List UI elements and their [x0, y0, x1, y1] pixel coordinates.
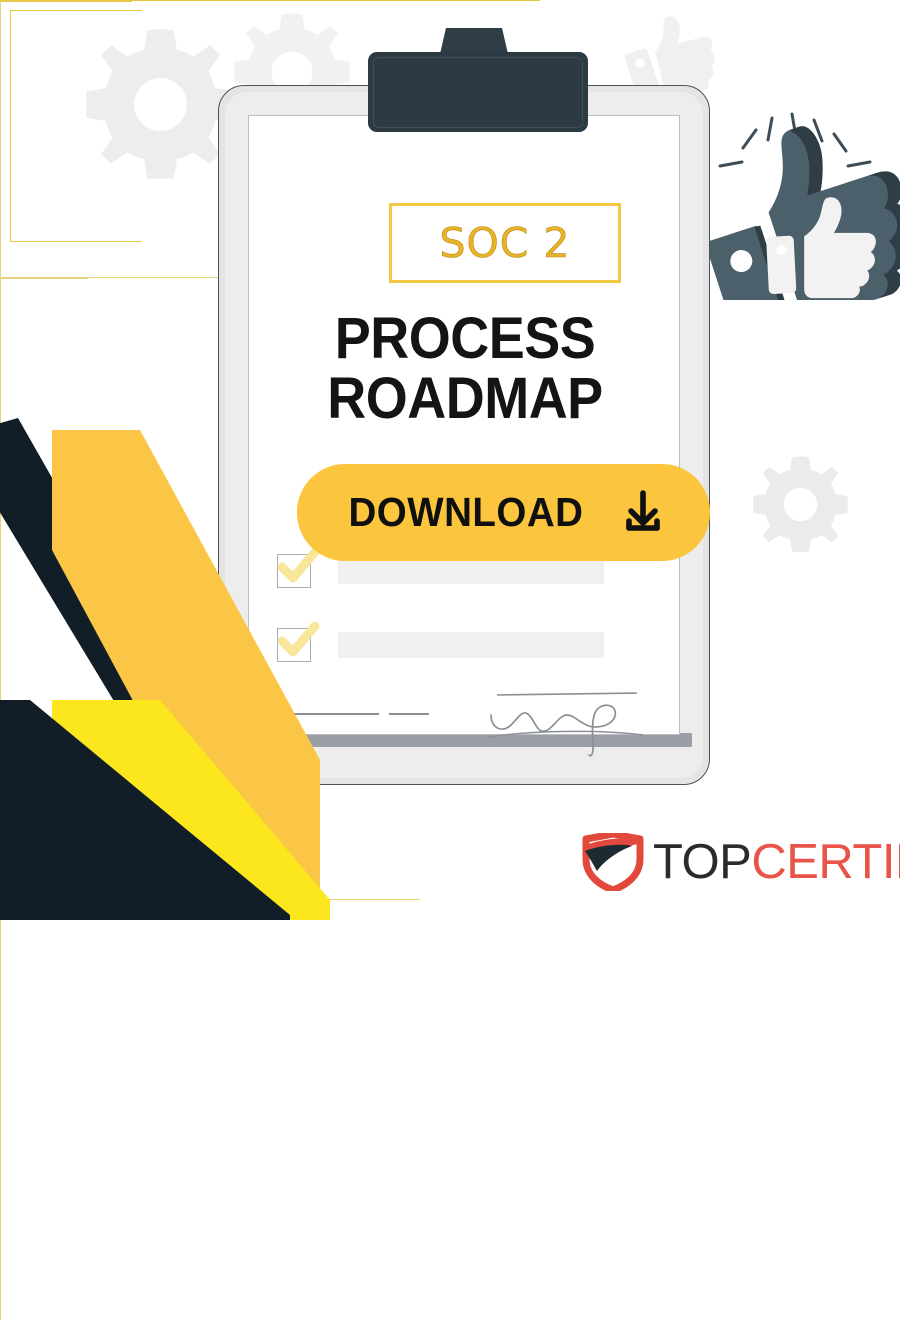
checkmark-icon — [274, 545, 320, 591]
brand-name-top: TOP — [653, 835, 751, 889]
download-arrow-icon — [620, 490, 666, 536]
poster-canvas: SOC 2 PROCESS ROADMAP DOWNLOAD — [0, 0, 900, 900]
checkbox[interactable] — [277, 554, 311, 588]
clipboard-clip-sheen — [373, 57, 583, 128]
clipboard-clip — [368, 52, 588, 132]
gear-bottom-right-icon — [748, 452, 853, 557]
signature-scribble-icon — [487, 685, 647, 757]
checklist-placeholder-bar — [338, 632, 604, 658]
brand-logo[interactable]: TOPCERTIFIER — [582, 833, 900, 891]
document-paper: SOC 2 PROCESS ROADMAP DOWNLOAD — [248, 115, 680, 735]
checklist-placeholder-bar — [338, 558, 604, 584]
thumbs-up-ghost-right-icon — [765, 195, 880, 305]
corner-bracket-outer-stub — [0, 1, 132, 2]
corner-bracket-inner-vertical — [0, 2, 1, 277]
corner-bracket-third-vertical — [0, 900, 1, 1320]
download-button[interactable]: DOWNLOAD — [297, 464, 710, 561]
corner-bracket-inner-stub — [0, 278, 88, 279]
checkmark-icon — [274, 619, 320, 665]
soc2-badge: SOC 2 — [389, 203, 621, 283]
clipboard: SOC 2 PROCESS ROADMAP DOWNLOAD — [218, 85, 710, 785]
shield-check-icon — [582, 833, 644, 891]
page-title-line2: ROADMAP — [264, 369, 666, 429]
page-title-line1: PROCESS — [264, 309, 666, 369]
page-title: PROCESS ROADMAP — [264, 309, 666, 428]
soc2-badge-label: SOC 2 — [439, 219, 570, 267]
checklist-item[interactable] — [277, 628, 657, 662]
brand-logo-text: TOPCERTIFIER — [653, 838, 900, 887]
form-line — [389, 713, 429, 715]
checkbox[interactable] — [277, 628, 311, 662]
download-button-label: DOWNLOAD — [348, 489, 583, 536]
brand-name-certifier: CERTIFIER — [751, 835, 900, 889]
